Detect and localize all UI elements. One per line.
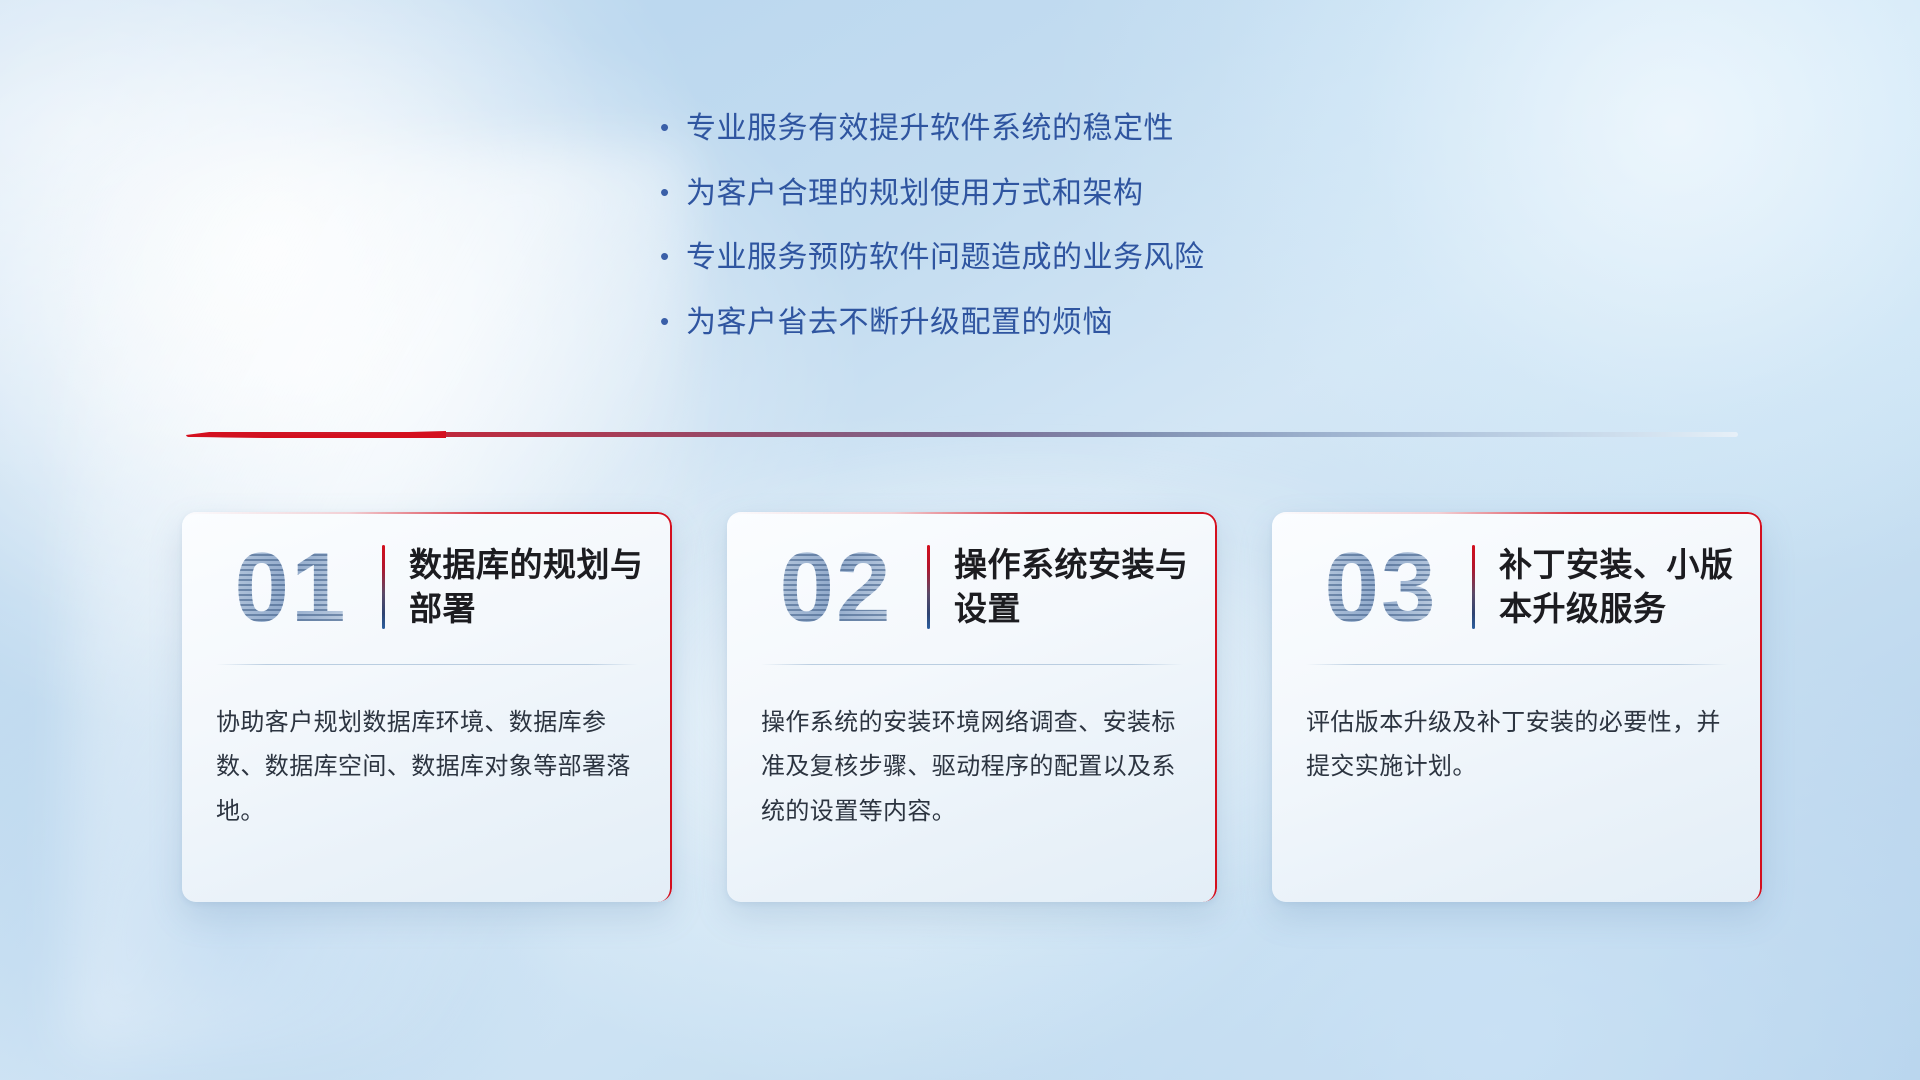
slide-canvas: • 专业服务有效提升软件系统的稳定性 • 为客户合理的规划使用方式和架构 • 专… — [0, 0, 1920, 1080]
card-title-rule — [1472, 545, 1475, 629]
bullet-dot-icon: • — [660, 308, 686, 334]
card-body-03: 评估版本升级及补丁安装的必要性，并提交实施计划。 — [1272, 665, 1762, 790]
card-header: 02 操作系统安装与设置 — [727, 512, 1217, 662]
card-body-01: 协助客户规划数据库环境、数据库参数、数据库空间、数据库对象等部署落地。 — [182, 665, 672, 834]
card-title-02: 操作系统安装与设置 — [954, 543, 1191, 631]
card-title-rule — [382, 545, 385, 629]
bullet-text-1: 专业服务有效提升软件系统的稳定性 — [686, 110, 1174, 148]
list-item: • 为客户合理的规划使用方式和架构 — [660, 175, 1420, 213]
bullet-dot-icon: • — [660, 243, 686, 269]
service-card-03[interactable]: 03 补丁安装、小版本升级服务 评估版本升级及补丁安装的必要性，并提交实施计划。 — [1272, 512, 1762, 902]
bullet-text-4: 为客户省去不断升级配置的烦恼 — [686, 304, 1113, 342]
benefits-bullet-list: • 专业服务有效提升软件系统的稳定性 • 为客户合理的规划使用方式和架构 • 专… — [660, 110, 1420, 368]
card-title-rule — [927, 545, 930, 629]
card-title-01: 数据库的规划与部署 — [409, 543, 646, 631]
service-card-01[interactable]: 01 数据库的规划与部署 协助客户规划数据库环境、数据库参数、数据库空间、数据库… — [182, 512, 672, 902]
bullet-text-3: 专业服务预防软件问题造成的业务风险 — [686, 239, 1205, 277]
bullet-dot-icon: • — [660, 179, 686, 205]
service-card-02[interactable]: 02 操作系统安装与设置 操作系统的安装环境网络调查、安装标准及复核步骤、驱动程… — [727, 512, 1217, 902]
list-item: • 专业服务有效提升软件系统的稳定性 — [660, 110, 1420, 148]
card-body-02: 操作系统的安装环境网络调查、安装标准及复核步骤、驱动程序的配置以及系统的设置等内… — [727, 665, 1217, 834]
list-item: • 专业服务预防软件问题造成的业务风险 — [660, 239, 1420, 277]
bullet-dot-icon: • — [660, 114, 686, 140]
card-number-03: 03 — [1296, 538, 1466, 636]
card-title-03: 补丁安装、小版本升级服务 — [1499, 543, 1736, 631]
card-header: 01 数据库的规划与部署 — [182, 512, 672, 662]
card-header: 03 补丁安装、小版本升级服务 — [1272, 512, 1762, 662]
bullet-text-2: 为客户合理的规划使用方式和架构 — [686, 175, 1144, 213]
list-item: • 为客户省去不断升级配置的烦恼 — [660, 304, 1420, 342]
service-card-list: 01 数据库的规划与部署 协助客户规划数据库环境、数据库参数、数据库空间、数据库… — [182, 512, 1762, 902]
section-divider — [186, 428, 1738, 444]
card-number-01: 01 — [206, 538, 376, 636]
card-number-02: 02 — [751, 538, 921, 636]
